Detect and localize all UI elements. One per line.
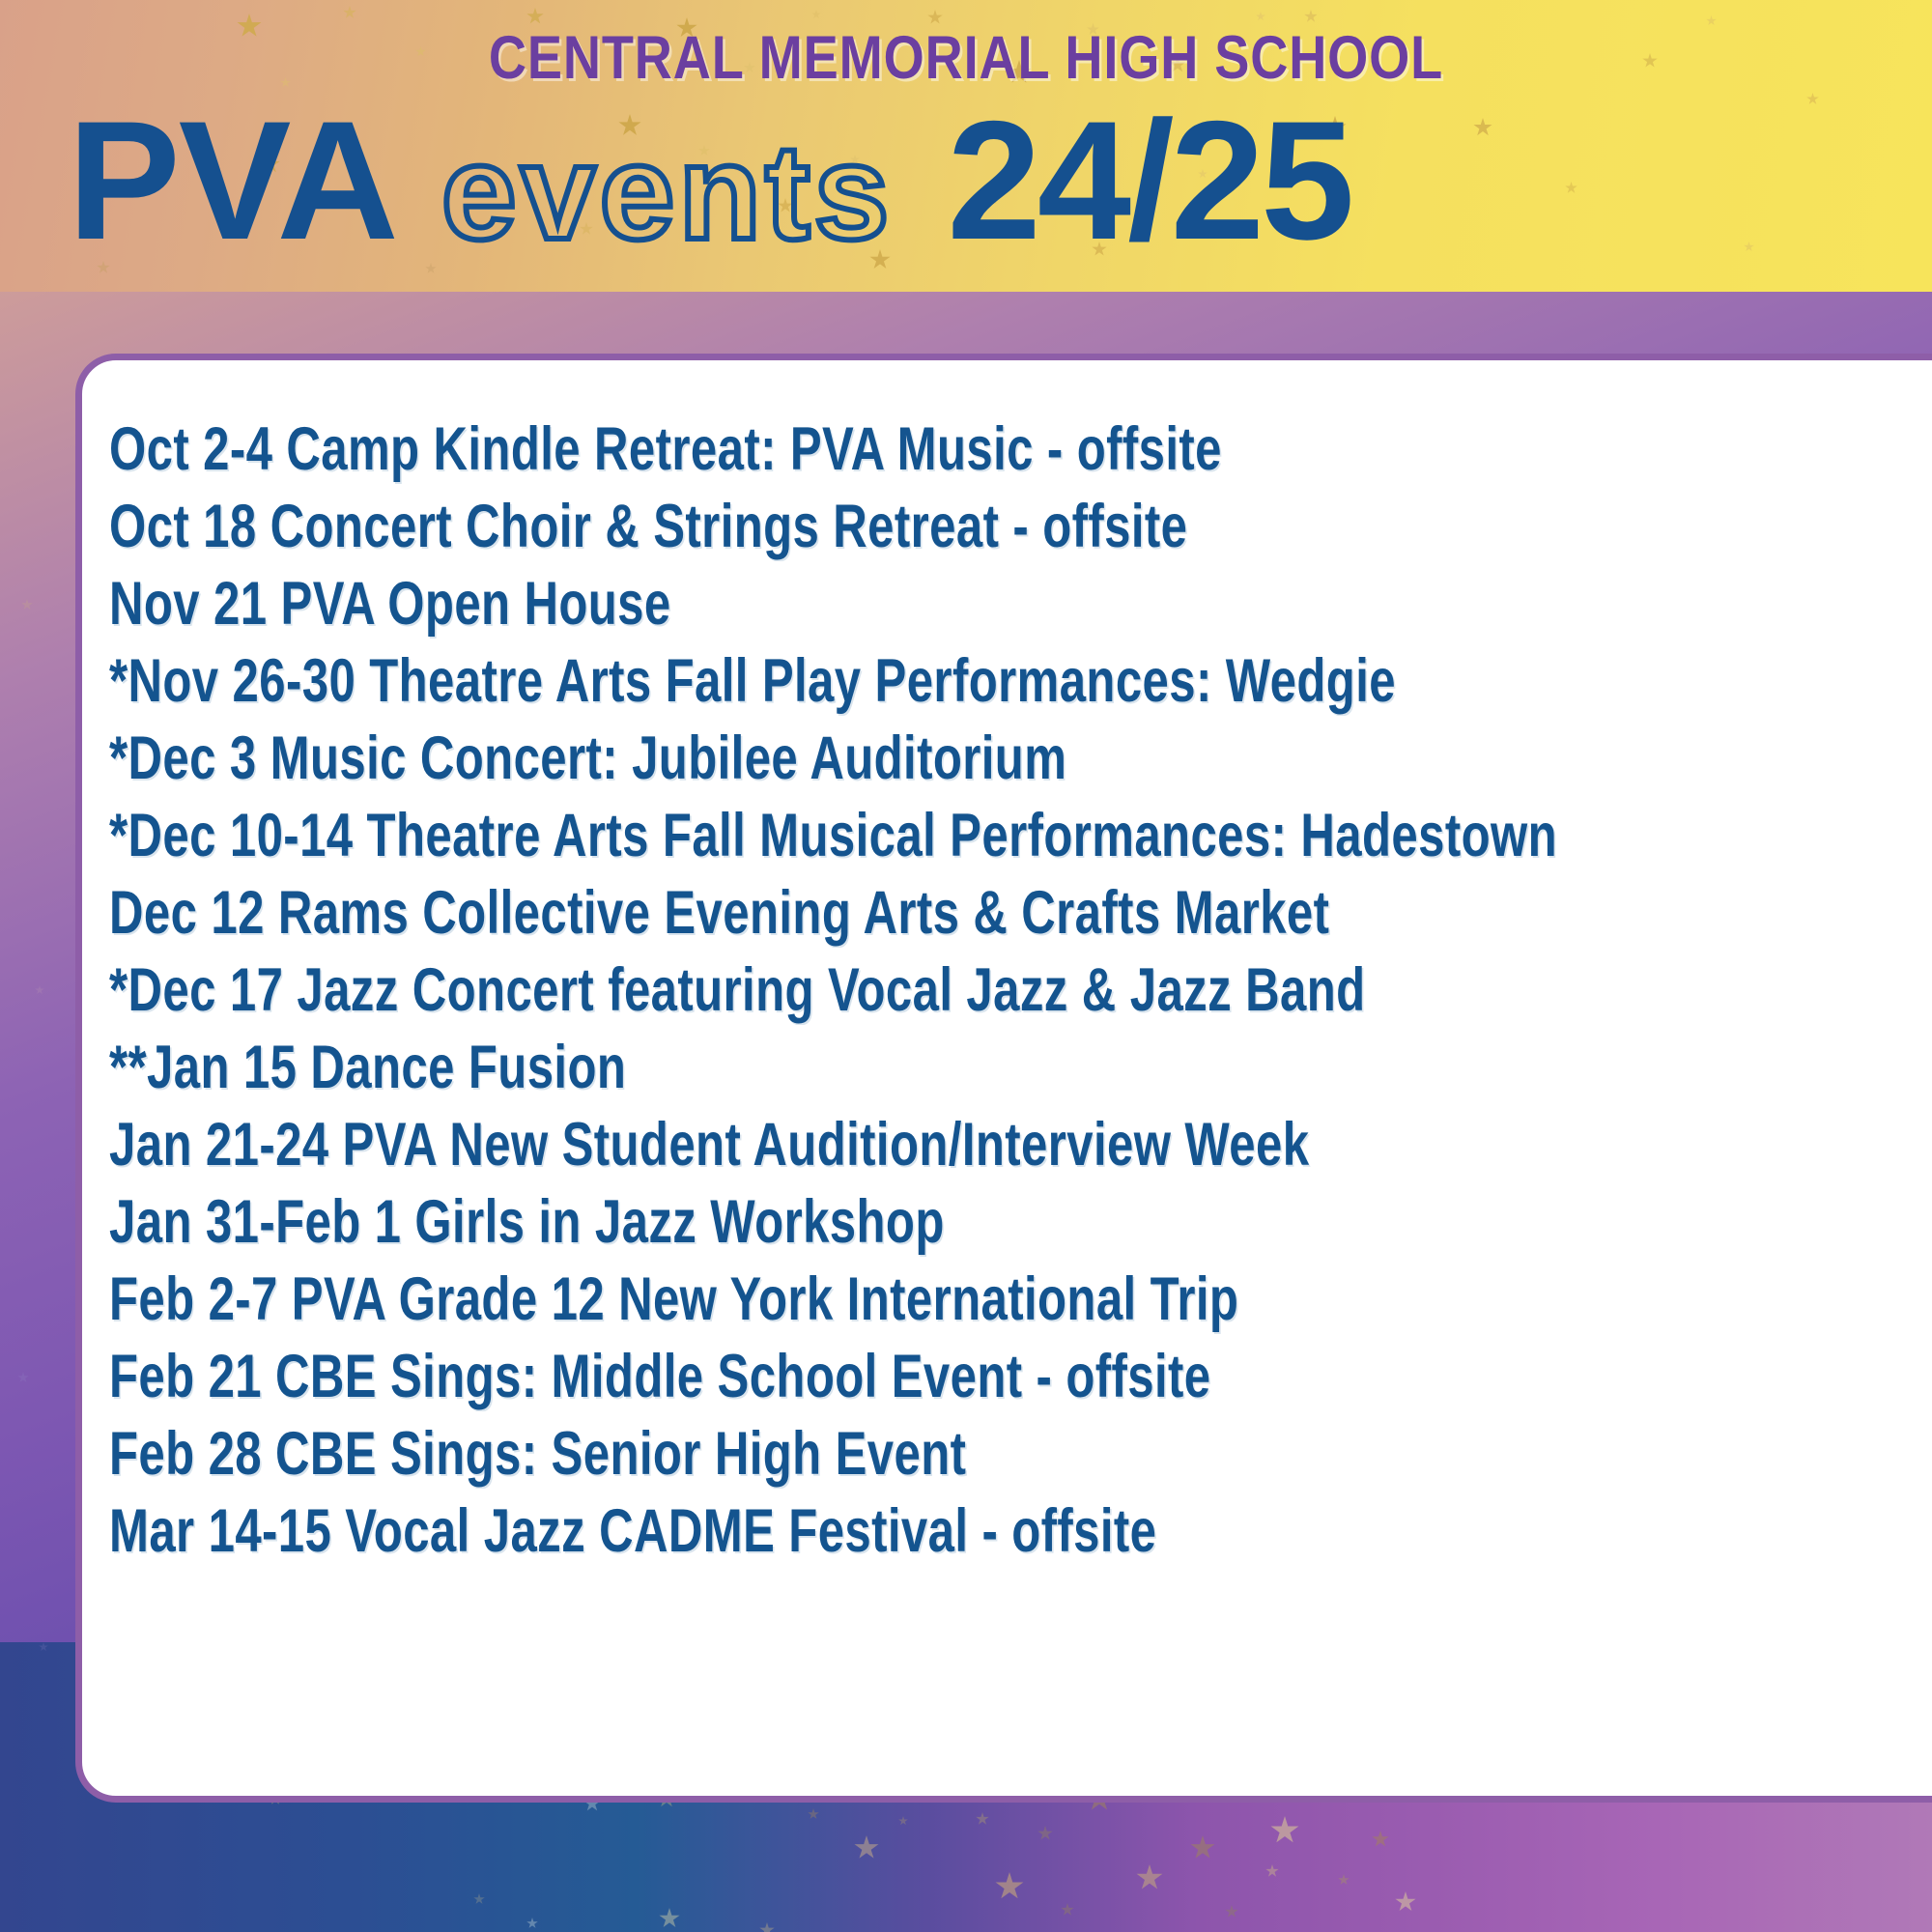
event-line: *Dec 3 Music Concert: Jubilee Auditorium — [109, 720, 1577, 797]
event-line: Nov 21 PVA Open House — [109, 565, 1577, 642]
star-icon — [35, 985, 44, 995]
star-icon — [811, 10, 821, 19]
event-line: Feb 21 CBE Sings: Middle School Event - … — [109, 1338, 1577, 1415]
star-icon — [1304, 10, 1318, 23]
event-line: *Dec 17 Jazz Concert featuring Vocal Jaz… — [109, 952, 1577, 1029]
event-line: **Jan 15 Dance Fusion — [109, 1029, 1577, 1106]
header-band: CENTRAL MEMORIAL HIGH SCHOOL PVA events … — [0, 0, 1932, 292]
events-card: Oct 2-4 Camp Kindle Retreat: PVA Music -… — [75, 354, 1932, 1803]
star-icon — [343, 6, 356, 19]
events-list: Oct 2-4 Camp Kindle Retreat: PVA Music -… — [109, 411, 1932, 1570]
poster-canvas: CENTRAL MEMORIAL HIGH SCHOOL PVA events … — [0, 0, 1932, 1932]
star-icon — [21, 599, 33, 611]
school-name-heading: CENTRAL MEMORIAL HIGH SCHOOL — [135, 23, 1797, 93]
event-line: Jan 21-24 PVA New Student Audition/Inter… — [109, 1106, 1577, 1183]
poster-title: PVA events 24/25 — [68, 97, 1932, 266]
event-line: Feb 2-7 PVA Grade 12 New York Internatio… — [109, 1261, 1577, 1338]
event-line: Oct 18 Concert Choir & Strings Retreat -… — [109, 488, 1577, 565]
title-school-year: 24/25 — [947, 97, 1350, 266]
event-line: *Dec 10-14 Theatre Arts Fall Musical Per… — [109, 797, 1577, 874]
title-pva: PVA — [68, 97, 397, 266]
title-events-outline: events — [441, 125, 894, 260]
event-line: Feb 28 CBE Sings: Senior High Event — [109, 1415, 1577, 1492]
event-line: Mar 14-15 Vocal Jazz CADME Festival - of… — [109, 1492, 1577, 1570]
event-line: Jan 31-Feb 1 Girls in Jazz Workshop — [109, 1183, 1577, 1261]
event-line: *Nov 26-30 Theatre Arts Fall Play Perfor… — [109, 642, 1577, 720]
event-line: Dec 12 Rams Collective Evening Arts & Cr… — [109, 874, 1577, 952]
event-line: Oct 2-4 Camp Kindle Retreat: PVA Music -… — [109, 411, 1577, 488]
star-icon — [17, 1372, 29, 1383]
star-icon — [1256, 12, 1265, 21]
